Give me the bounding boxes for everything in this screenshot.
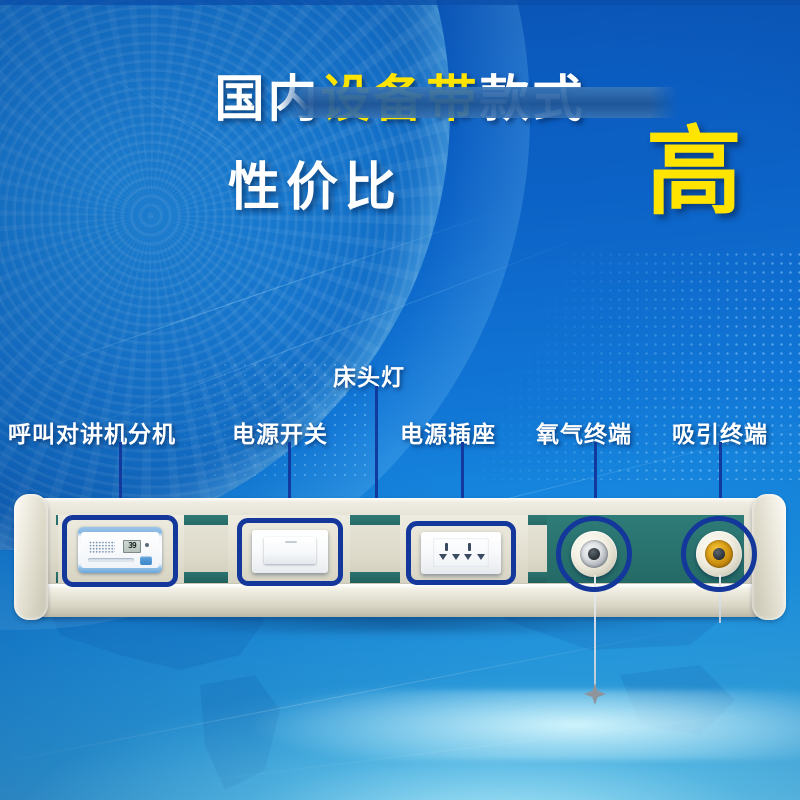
callout-label-power-switch: 电源开关 xyxy=(232,415,328,449)
highlight-suction-outlet xyxy=(681,516,757,592)
callout-label-power-socket: 电源插座 xyxy=(400,415,496,449)
highlight-power-switch xyxy=(237,518,343,586)
callout-label-intercom: 呼叫对讲机分机 xyxy=(8,415,176,449)
panel-blue-strip xyxy=(278,87,678,118)
marketing-banner: 国内设备带款式 性价比 高 呼叫对讲机分机 电源开关 床头灯 电源插座 氧气终端… xyxy=(0,0,800,800)
pull-cord-oxygen[interactable] xyxy=(594,575,596,690)
panel-end-cap-left xyxy=(14,494,48,620)
highlight-power-socket xyxy=(406,521,516,585)
highlight-oxygen-outlet xyxy=(556,516,632,592)
panel-end-cap-right xyxy=(752,494,786,620)
callout-label-oxygen-outlet: 氧气终端 xyxy=(536,415,632,449)
highlight-intercom xyxy=(62,515,178,587)
headline-emphasis: 高 xyxy=(646,125,742,221)
bottom-glow-highlight xyxy=(120,690,800,760)
top-edge-bar xyxy=(0,0,800,5)
callout-label-bedside-lamp: 床头灯 xyxy=(333,358,405,392)
panel-lower-rail xyxy=(28,584,772,617)
